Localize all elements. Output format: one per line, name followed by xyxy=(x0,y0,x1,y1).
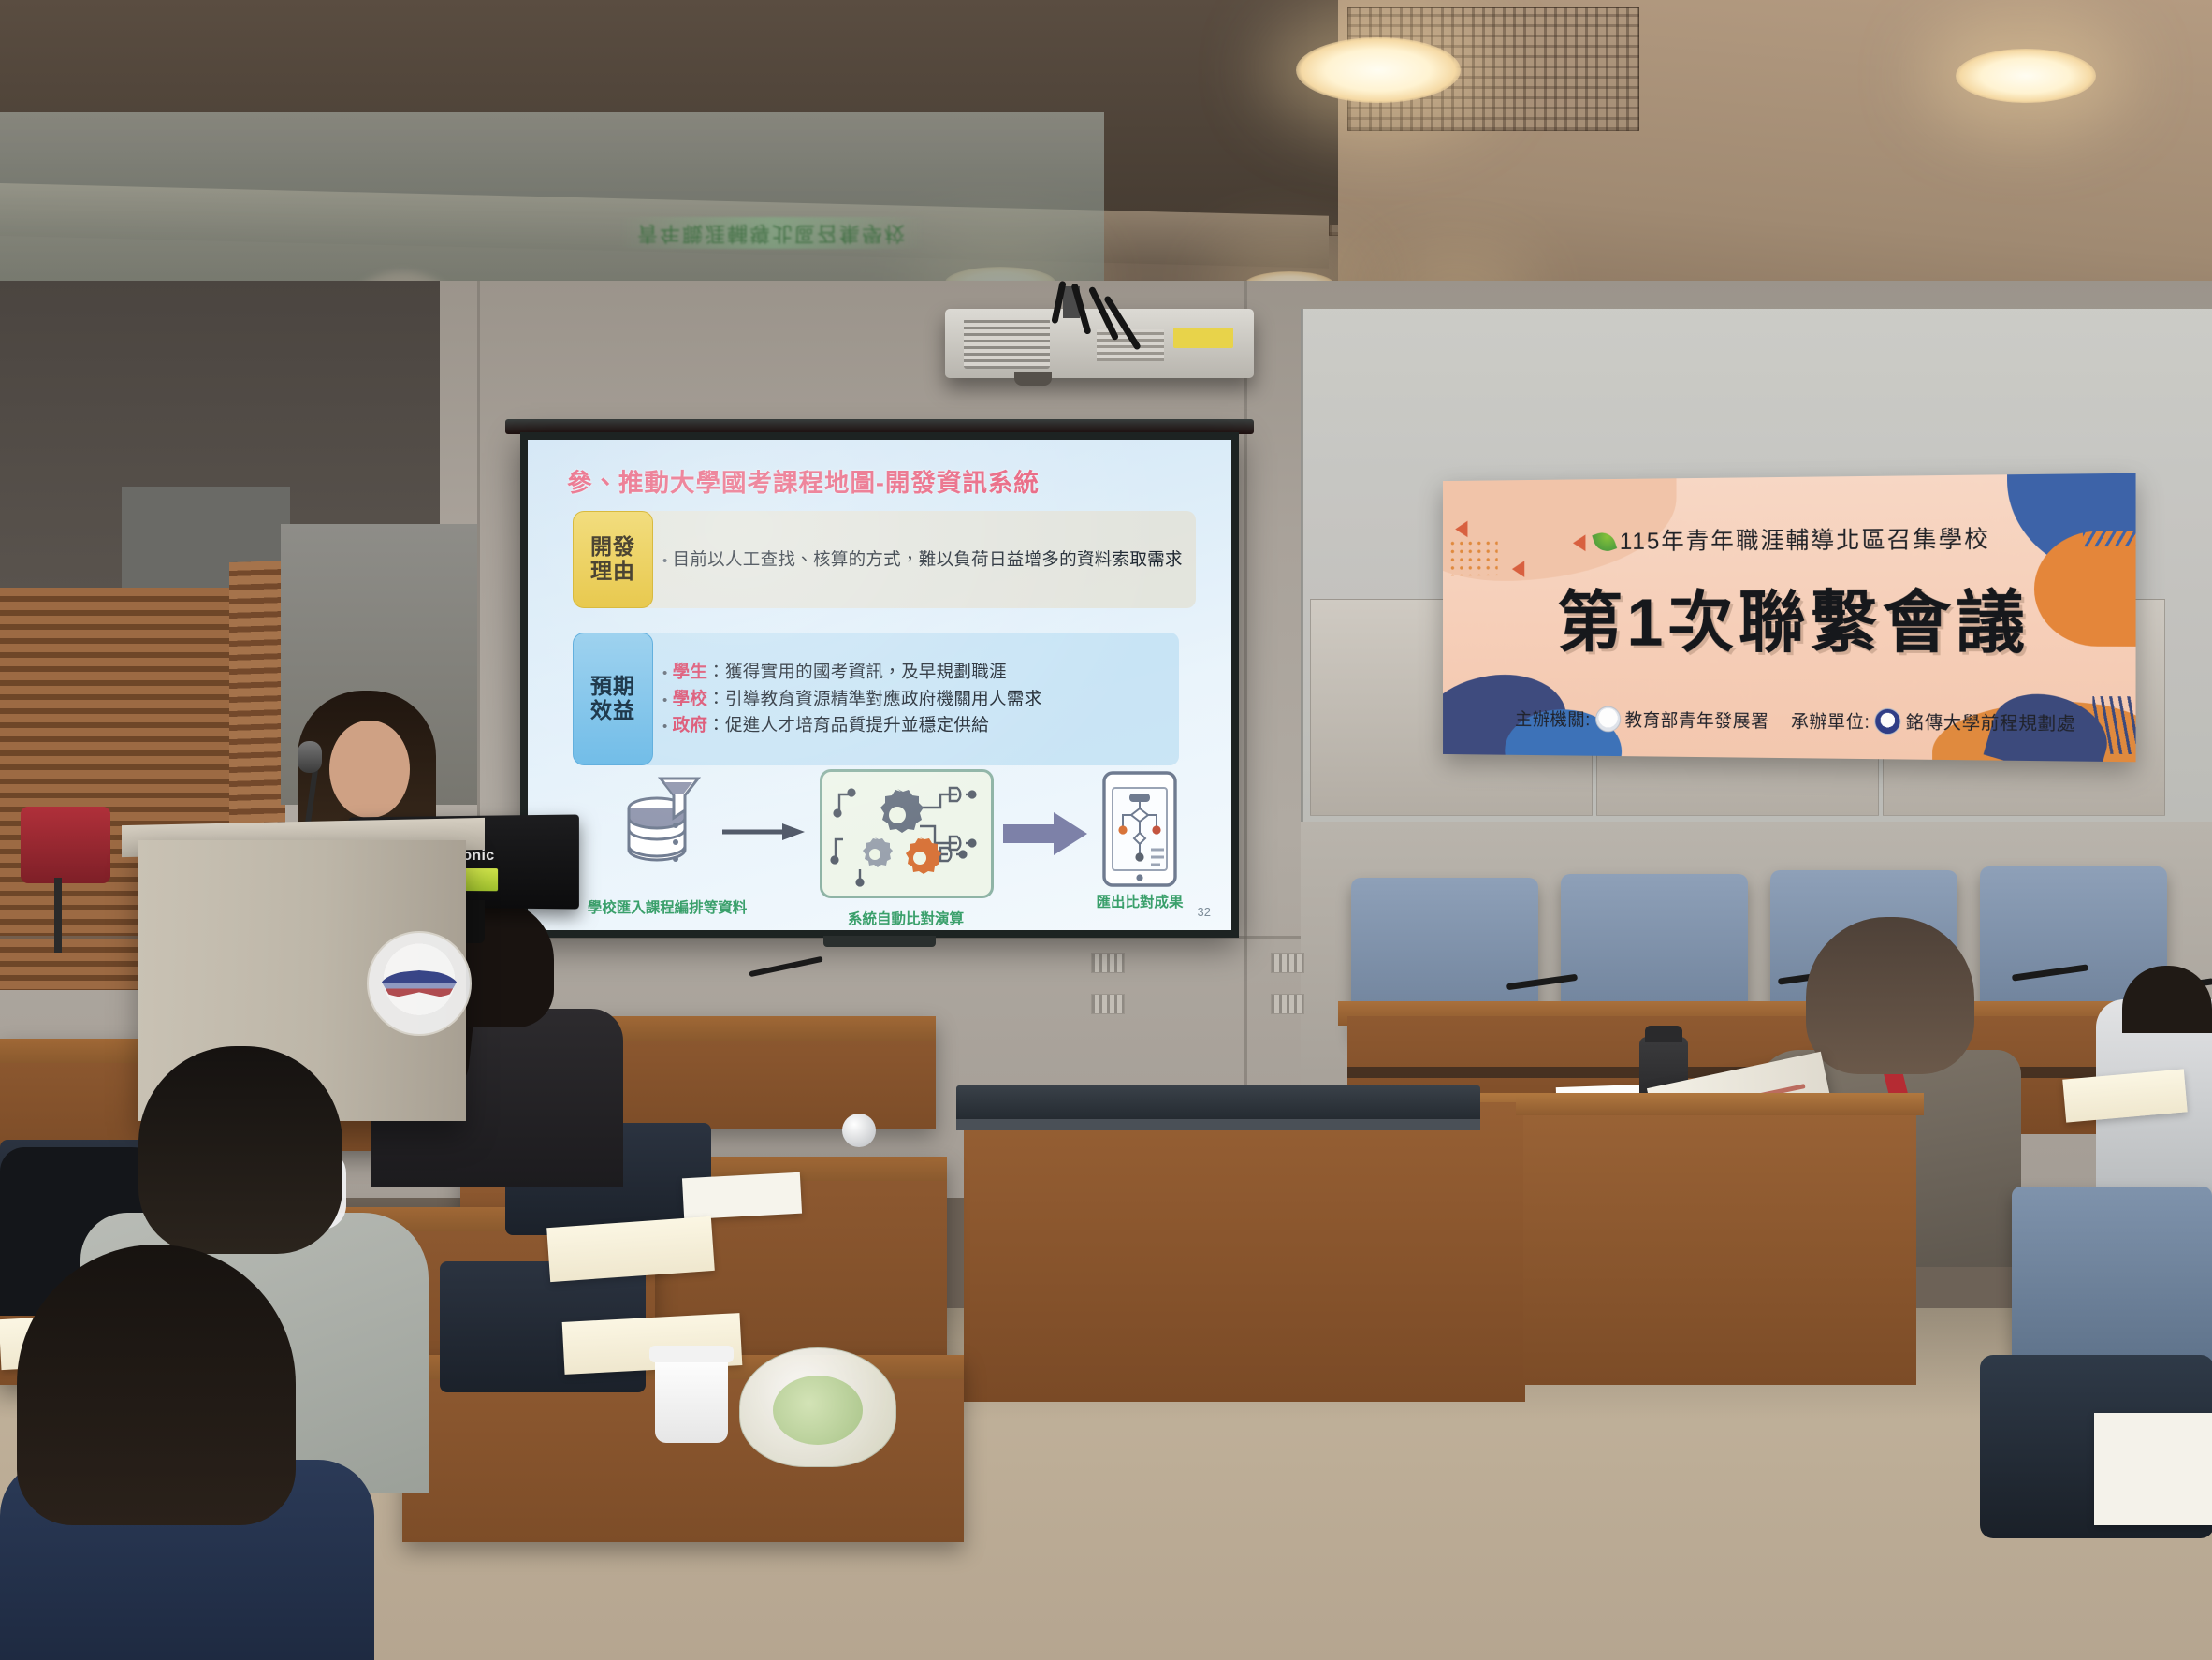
projection-screen-frame: 參、推動大學國考課程地圖-開發資訊系統 開發 理由 •目前以人工查找、核算的方式… xyxy=(520,432,1239,938)
name-tent-card xyxy=(682,1172,802,1220)
ceiling-downlight xyxy=(1956,49,2096,103)
slide-flow-diagram: 學校匯入課程編排等資料 系統自動比對演算 匯出比對成果 xyxy=(580,777,1179,917)
wall-seam xyxy=(1244,281,1247,1123)
front-table-right-top xyxy=(1516,1093,1924,1115)
speaker-grille-icon xyxy=(1091,953,1125,973)
flow-label-2: 系統自動比對演算 xyxy=(822,908,990,928)
bullet-item: •政府：促進人才培育品質提升並穩定供給 xyxy=(662,712,1166,739)
executor-name: 銘傳大學前程規劃處 xyxy=(1906,713,2075,735)
presenter-face xyxy=(329,721,410,818)
database-icon xyxy=(616,777,709,874)
badge-line-2: 效益 xyxy=(590,699,635,723)
bullet-dot-icon: • xyxy=(662,719,668,735)
organizer-label: 主辦機關: xyxy=(1515,710,1591,730)
flow-step-3 xyxy=(1100,771,1179,894)
projector-vent-icon xyxy=(964,318,1050,369)
event-banner: 115年青年職涯輔導北區召集學校 第1次聯繫會議 主辦機關:教育部青年發展署 承… xyxy=(1443,473,2135,763)
slide-title: 參、推動大學國考課程地圖-開發資訊系統 xyxy=(567,462,1040,499)
paper-cup xyxy=(655,1355,728,1443)
gear-small-icon xyxy=(863,837,893,867)
badge-line-1: 預期 xyxy=(590,675,635,699)
screen-bottom-bar xyxy=(823,936,936,947)
bullet-keyword: 學校 xyxy=(673,689,708,708)
bullet-item: •學校：引導教育資源精準對應政府機關用人需求 xyxy=(662,686,1166,713)
bullet-dot-icon: • xyxy=(662,553,668,569)
projector-warning-label xyxy=(1173,328,1233,348)
flow-step-2 xyxy=(820,769,994,898)
chair-leg xyxy=(54,878,62,953)
slide-block-expected-benefit: 預期 效益 •學生：獲得實用的國考資訊，及早規劃職涯 •學校：引導教育資源精準對… xyxy=(573,633,1179,765)
desk-ball xyxy=(842,1114,876,1147)
badge-line-1: 開發 xyxy=(590,535,635,560)
mcu-seal-icon xyxy=(1874,708,1900,735)
executor-label: 承辦單位: xyxy=(1791,712,1870,733)
attendee-head xyxy=(1806,917,1974,1074)
document-sheet xyxy=(2094,1413,2212,1525)
podium-microphone xyxy=(298,741,322,773)
organizer-name: 教育部青年發展署 xyxy=(1625,711,1769,732)
flow-step-1 xyxy=(616,777,709,879)
arrow-right-icon xyxy=(722,822,808,844)
front-table xyxy=(964,1102,1525,1402)
cup-lid xyxy=(649,1346,734,1362)
badge-line-2: 理由 xyxy=(590,560,635,584)
badge-development-reason: 開發 理由 xyxy=(573,511,653,608)
block-body: •目前以人工查找、核算的方式，難以負荷日益增多的資料索取需求 xyxy=(633,511,1196,608)
leaf-logo-icon xyxy=(1592,529,1617,554)
red-chair[interactable] xyxy=(21,807,110,883)
bullet-keyword: 政府 xyxy=(673,715,708,735)
slide-page-number: 32 xyxy=(1198,905,1211,919)
banner-content: 115年青年職涯輔導北區召集學校 第1次聯繫會議 主辦機關:教育部青年發展署 承… xyxy=(1491,495,2103,743)
bullet-item: •目前以人工查找、核算的方式，難以負荷日益增多的資料索取需求 xyxy=(662,546,1183,574)
reflected-green-sign: 青年職涯輔導北區召集學校 xyxy=(618,217,926,249)
badge-expected-benefit: 預期 效益 xyxy=(573,633,653,765)
foreground-attendee-head xyxy=(138,1046,342,1254)
conference-room-photo: 青年職涯輔導北區召集學校 參、推動大學國考課程地圖-開發資訊系統 xyxy=(0,0,2212,1660)
bullet-text: ：引導教育資源精準對應政府機關用人需求 xyxy=(707,689,1041,708)
bullet-text: ：獲得實用的國考資訊，及早規劃職涯 xyxy=(707,662,1007,681)
bullet-dot-icon: • xyxy=(662,665,668,681)
bullet-dot-icon: • xyxy=(662,692,668,708)
glass-table-edge xyxy=(956,1119,1480,1130)
window-mullion xyxy=(1301,309,1303,833)
slide-block-development-reason: 開發 理由 •目前以人工查找、核算的方式，難以負荷日益增多的資料索取需求 xyxy=(573,511,1179,608)
clerestory-glass xyxy=(0,112,1104,293)
front-table-right xyxy=(1523,1104,1916,1385)
university-logo xyxy=(367,931,472,1036)
block-body: •學生：獲得實用的國考資訊，及早規劃職涯 •學校：引導教育資源精準對應政府機關用… xyxy=(633,633,1179,765)
flow-label-3: 匯出比對成果 xyxy=(1065,891,1215,911)
bullet-text: ：促進人才培育品質提升並穩定供給 xyxy=(707,715,989,735)
arrow-right-bold-icon xyxy=(1003,812,1093,855)
speaker-grille-icon xyxy=(1271,953,1304,973)
bullet-item: •學生：獲得實用的國考資訊，及早規劃職涯 xyxy=(662,659,1166,686)
moe-seal-icon xyxy=(1595,706,1621,733)
banner-subtitle-text: 115年青年職涯輔導北區召集學校 xyxy=(1620,526,1990,554)
document-sheet xyxy=(546,1216,715,1282)
projector-lens xyxy=(1014,372,1052,386)
banner-footer: 主辦機關:教育部青年發展署 承辦單位:銘傳大學前程規劃處 xyxy=(1491,706,2103,736)
bottle-cap xyxy=(1645,1026,1682,1042)
tablet-icon xyxy=(1100,771,1179,889)
speaker-grille-icon xyxy=(1271,994,1304,1014)
banner-triangle-icon xyxy=(1455,521,1467,538)
bag-contents xyxy=(773,1376,863,1445)
banner-main-title: 第1次聯繫會議 xyxy=(1491,566,2103,667)
bullet-text: 目前以人工查找、核算的方式，難以負荷日益增多的資料索取需求 xyxy=(673,549,1183,569)
presentation-slide: 參、推動大學國考課程地圖-開發資訊系統 開發 理由 •目前以人工查找、核算的方式… xyxy=(528,440,1231,930)
foreground-attendee-2-head xyxy=(17,1245,296,1525)
bullet-keyword: 學生 xyxy=(673,662,708,681)
speaker-grille-icon xyxy=(1091,994,1125,1014)
flow-label-1: 學校匯入課程編排等資料 xyxy=(580,896,754,917)
ceiling-downlight xyxy=(1296,37,1461,103)
gears-circuit-icon xyxy=(822,772,985,890)
attendee-chair[interactable] xyxy=(2012,1187,2212,1374)
banner-subtitle: 115年青年職涯輔導北區召集學校 xyxy=(1491,519,2103,557)
